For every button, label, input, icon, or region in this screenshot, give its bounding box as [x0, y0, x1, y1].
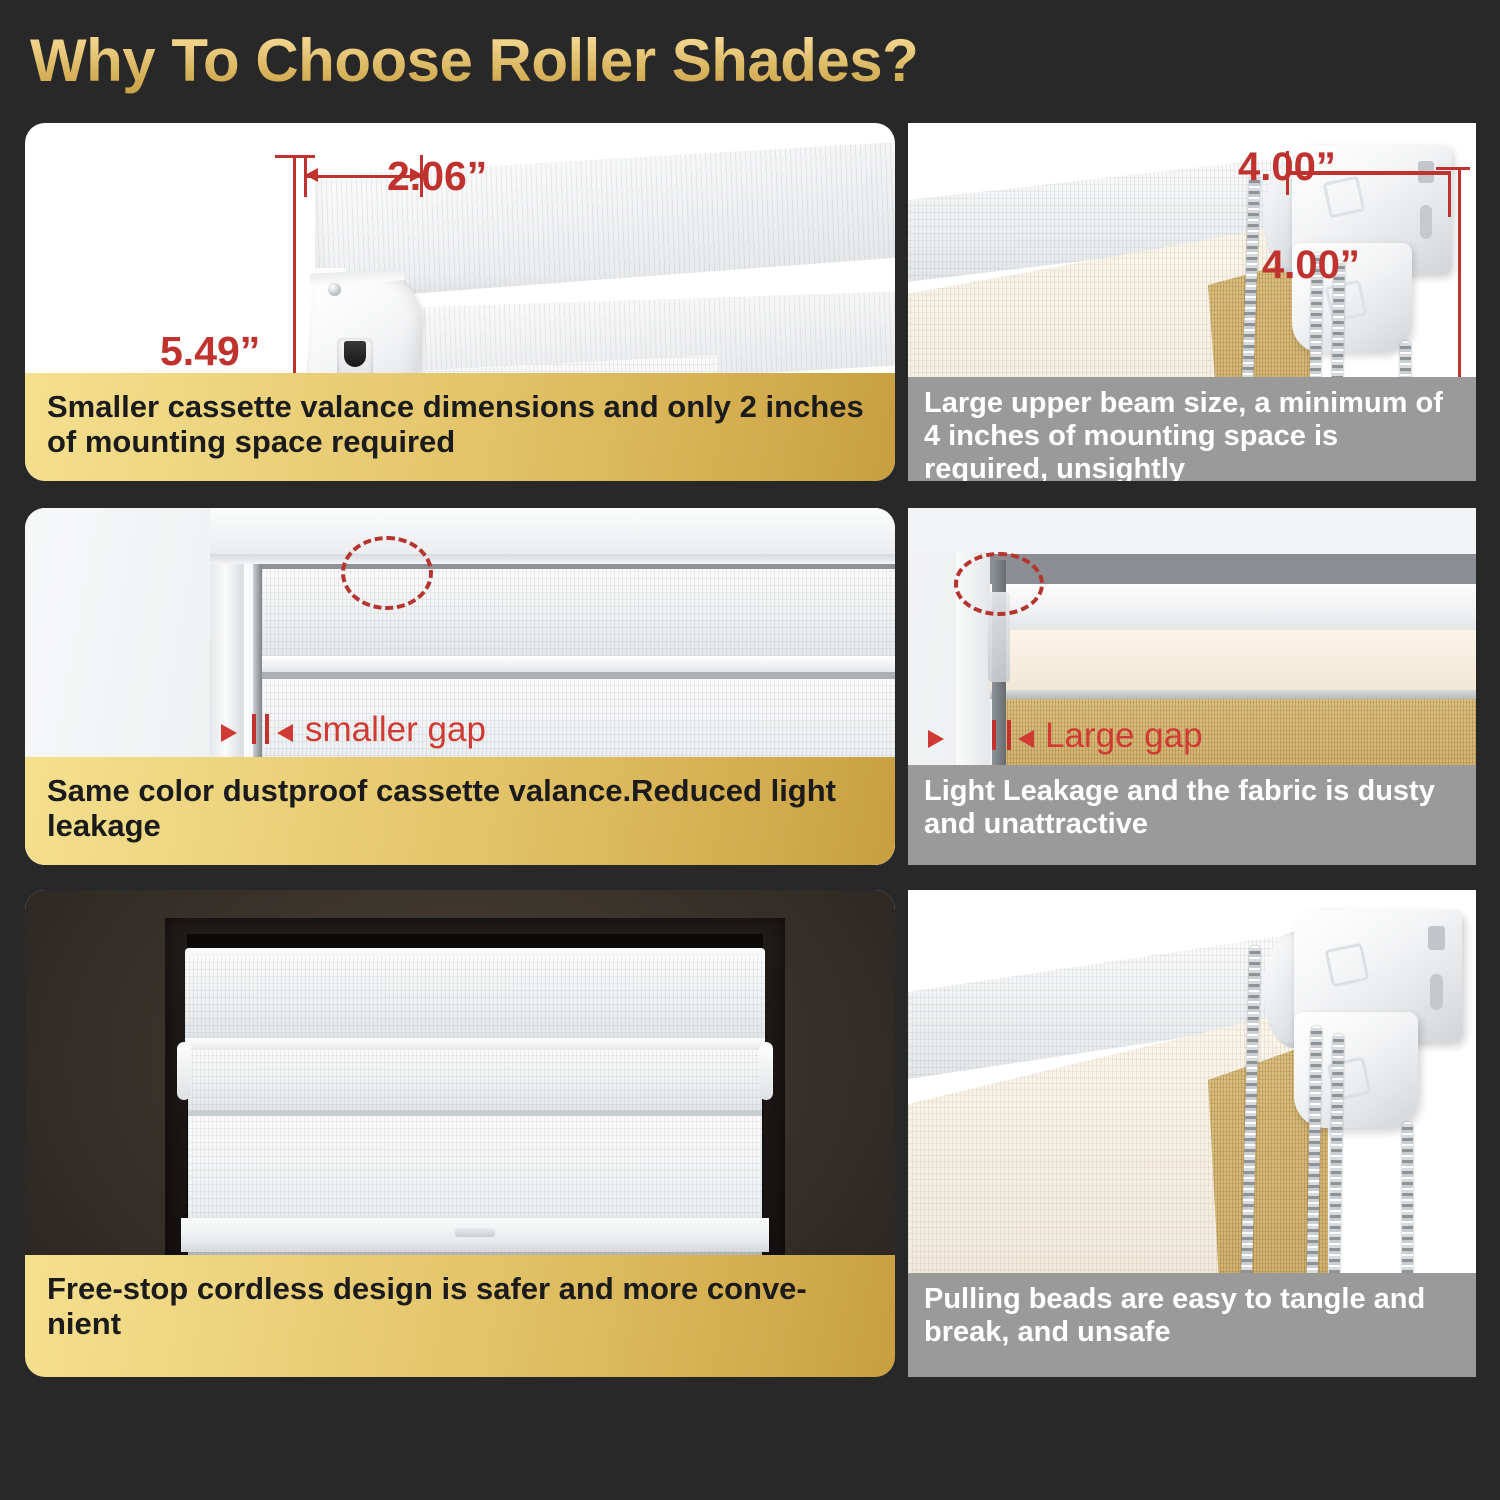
caption-bar: Free-stop cordless design is safer and m… [25, 1255, 895, 1377]
panel-large-upper-beam: 4.00” 4.00” Large upper beam size, a min… [908, 123, 1476, 481]
dimension-label-height: 5.49” [160, 328, 260, 375]
panel-pulling-beads: Pulling beads are easy to tangle and bre… [908, 890, 1476, 1377]
dimension-label-width: 4.00” [1238, 145, 1336, 190]
panel-cordless-design: Free-stop cordless design is safer and m… [25, 890, 895, 1377]
caption-text: Free-stop cordless design is safer and m… [47, 1271, 873, 1341]
dimension-label-width: 2.06” [387, 153, 487, 200]
caption-text: Pulling beads are easy to tangle and bre… [924, 1283, 1460, 1349]
panel-smaller-gap: smaller gap Same color dustproof cassett… [25, 508, 895, 865]
page-title: Why To Choose Roller Shades? [30, 22, 1230, 100]
caption-bar: Pulling beads are easy to tangle and bre… [908, 1273, 1476, 1377]
caption-bar: Light Leakage and the fabric is dusty an… [908, 765, 1476, 865]
caption-bar: Large upper beam size, a minimum of 4 in… [908, 377, 1476, 481]
caption-bar: Same color dustproof cassette valance.Re… [25, 757, 895, 865]
caption-text: Smaller cassette valance dimensions and … [47, 389, 873, 459]
panel-large-gap: Large gap Light Leakage and the fabric i… [908, 508, 1476, 865]
gap-highlight-circle-inner [341, 536, 433, 610]
gap-highlight-circle [954, 552, 1044, 616]
caption-text: Large upper beam size, a minimum of 4 in… [924, 387, 1460, 481]
dimension-label-height: 4.00” [1262, 243, 1360, 288]
panel-smaller-cassette: 2.06” 5.49” Smaller cassette valance dim… [25, 123, 895, 481]
gap-callout-label: Large gap [1045, 716, 1203, 756]
gap-callout-label: smaller gap [305, 710, 486, 750]
caption-text: Same color dustproof cassette valance.Re… [47, 773, 873, 843]
caption-bar: Smaller cassette valance dimensions and … [25, 373, 895, 481]
caption-text: Light Leakage and the fabric is dusty an… [924, 775, 1460, 841]
